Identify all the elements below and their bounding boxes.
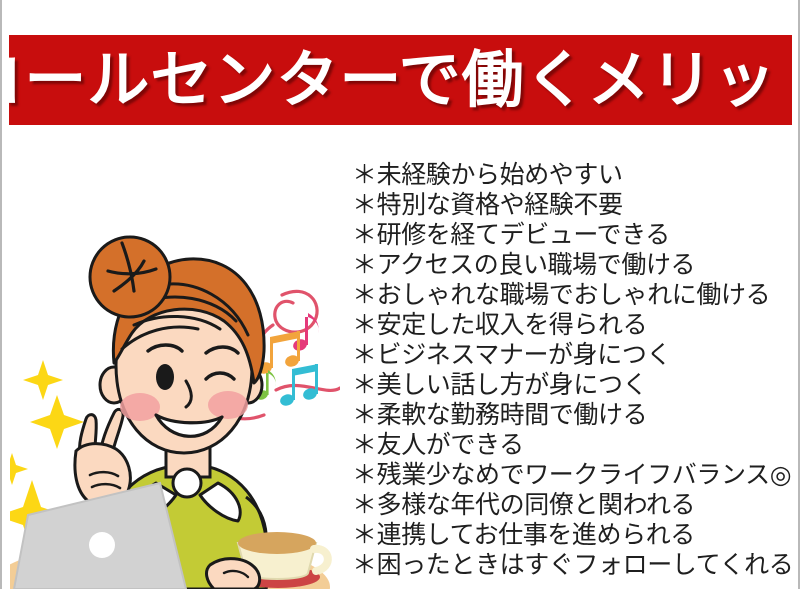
eye-open-icon <box>156 364 174 390</box>
list-item: ＊友人ができる <box>352 430 792 460</box>
illustration-svg <box>10 225 340 589</box>
typing-hand-icon <box>207 559 260 589</box>
title-banner: コールセンターで働くメリット <box>9 35 792 125</box>
list-item: ＊連携してお仕事を進められる <box>352 520 792 550</box>
slide-canvas: コールセンターで働くメリット <box>0 0 800 589</box>
list-item: ＊多様な年代の同僚と関われる <box>352 490 792 520</box>
page-title: コールセンターで働くメリット <box>9 49 792 111</box>
list-item: ＊安定した収入を得られる <box>352 310 792 340</box>
laptop-icon <box>14 483 186 589</box>
list-item: ＊アクセスの良い職場で働ける <box>352 250 792 280</box>
list-item: ＊研修を経てデビューできる <box>352 220 792 250</box>
list-item: ＊柔軟な勤務時間で働ける <box>352 400 792 430</box>
woman-at-laptop-illustration <box>10 225 340 589</box>
list-item: ＊未経験から始めやすい <box>352 160 792 190</box>
sparkle-icon <box>10 453 28 485</box>
list-item: ＊特別な資格や経験不要 <box>352 190 792 220</box>
list-item: ＊ビジネスマナーが身につく <box>352 340 792 370</box>
list-item: ＊おしゃれな職場でおしゃれに働ける <box>352 280 792 310</box>
benefits-list: ＊未経験から始めやすい ＊特別な資格や経験不要 ＊研修を経てデビューできる ＊ア… <box>352 160 792 580</box>
list-item: ＊残業少なめでワークライフバランス◎ <box>352 460 792 490</box>
sparkle-icon <box>30 395 84 449</box>
blush-shape <box>208 391 248 419</box>
list-item: ＊困ったときはすぐフォローしてくれる <box>352 550 792 580</box>
blush-shape <box>120 393 160 421</box>
list-item: ＊美しい話し方が身につく <box>352 370 792 400</box>
sparkle-icon <box>23 360 63 400</box>
